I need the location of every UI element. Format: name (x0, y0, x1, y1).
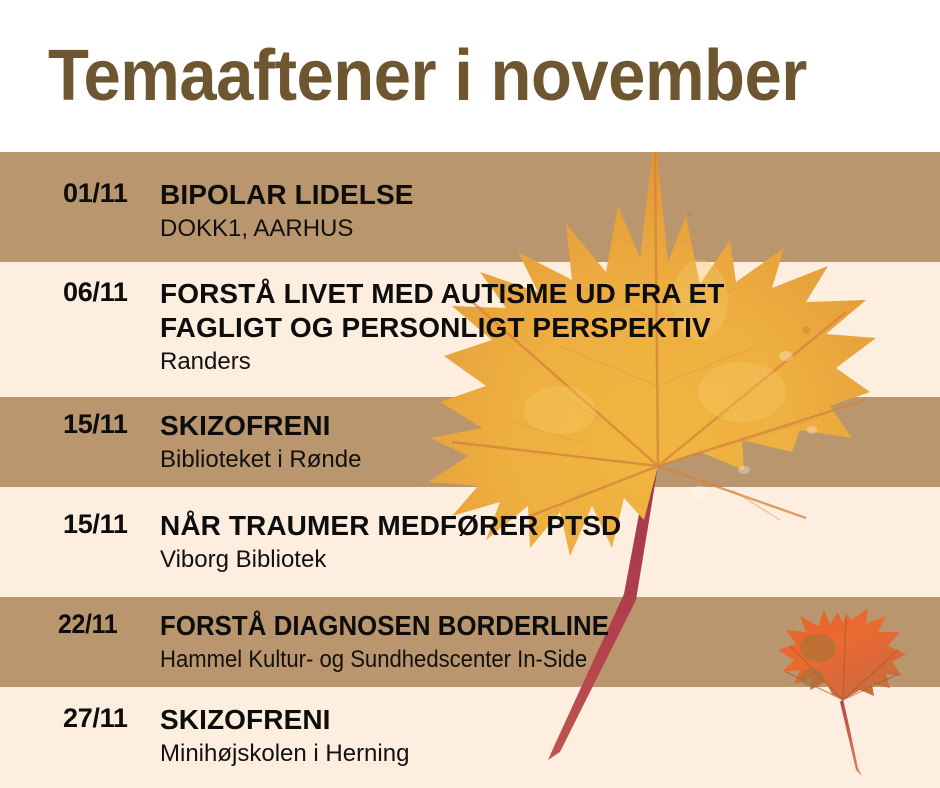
title-bar: Temaaftener i november (0, 0, 940, 152)
event-venue: Hammel Kultur- og Sundhedscenter In-Side (160, 645, 878, 675)
event-row-3: 15/11 SKIZOFRENI Biblioteket i Rønde (0, 409, 940, 475)
event-details: FORSTÅ DIAGNOSEN BORDERLINE Hammel Kultu… (160, 609, 940, 675)
event-venue: Randers (160, 347, 940, 377)
event-date: 15/11 (0, 409, 160, 440)
event-details: SKIZOFRENI Minihøjskolen i Herning (160, 703, 940, 769)
poster-canvas: Temaaftener i november 01/11 BIPOLAR LID… (0, 0, 940, 788)
event-date: 01/11 (0, 178, 160, 209)
event-venue: Viborg Bibliotek (160, 545, 940, 575)
page-title: Temaaftener i november (48, 40, 807, 112)
event-details: FORSTÅ LIVET MED AUTISME UD FRA ET FAGLI… (160, 277, 940, 377)
event-row-1: 01/11 BIPOLAR LIDELSE DOKK1, AARHUS (0, 178, 940, 244)
event-title: FORSTÅ DIAGNOSEN BORDERLINE (160, 609, 878, 643)
event-date: 27/11 (0, 703, 160, 734)
event-row-4: 15/11 NÅR TRAUMER MEDFØRER PTSD Viborg B… (0, 509, 940, 575)
event-title: SKIZOFRENI (160, 703, 940, 737)
event-venue: DOKK1, AARHUS (160, 214, 940, 244)
event-list: 01/11 BIPOLAR LIDELSE DOKK1, AARHUS 06/1… (0, 152, 940, 788)
event-title: SKIZOFRENI (160, 409, 940, 443)
event-details: BIPOLAR LIDELSE DOKK1, AARHUS (160, 178, 940, 244)
event-title: BIPOLAR LIDELSE (160, 178, 940, 212)
event-date: 06/11 (0, 277, 160, 308)
event-date: 15/11 (0, 509, 160, 540)
event-date: 22/11 (0, 609, 147, 640)
event-venue: Minihøjskolen i Herning (160, 739, 940, 769)
event-venue: Biblioteket i Rønde (160, 445, 940, 475)
event-title: FORSTÅ LIVET MED AUTISME UD FRA ET FAGLI… (160, 277, 940, 345)
event-title: NÅR TRAUMER MEDFØRER PTSD (160, 509, 940, 543)
event-row-2: 06/11 FORSTÅ LIVET MED AUTISME UD FRA ET… (0, 277, 940, 377)
event-row-6: 27/11 SKIZOFRENI Minihøjskolen i Herning (0, 703, 940, 769)
event-details: NÅR TRAUMER MEDFØRER PTSD Viborg Bibliot… (160, 509, 940, 575)
event-row-5: 22/11 FORSTÅ DIAGNOSEN BORDERLINE Hammel… (0, 609, 940, 675)
event-details: SKIZOFRENI Biblioteket i Rønde (160, 409, 940, 475)
